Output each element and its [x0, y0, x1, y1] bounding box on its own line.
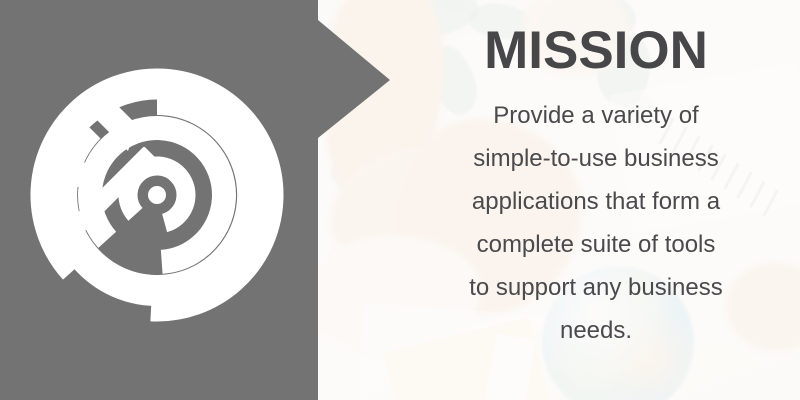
target-bullseye-with-arrow-icon [24, 62, 290, 328]
body-line: complete suite of tools [404, 223, 788, 266]
body-line: to support any business [404, 266, 788, 309]
body-line: needs. [404, 309, 788, 352]
body-line: applications that form a [404, 180, 788, 223]
mission-banner: MISSION Provide a variety of simple-to-u… [0, 0, 800, 400]
body-line: simple-to-use business [404, 137, 788, 180]
mission-text-block: MISSION Provide a variety of simple-to-u… [404, 22, 788, 352]
page-title: MISSION [404, 22, 788, 80]
body-line: Provide a variety of [404, 94, 788, 137]
mission-body-text: Provide a variety of simple-to-use busin… [404, 94, 788, 352]
